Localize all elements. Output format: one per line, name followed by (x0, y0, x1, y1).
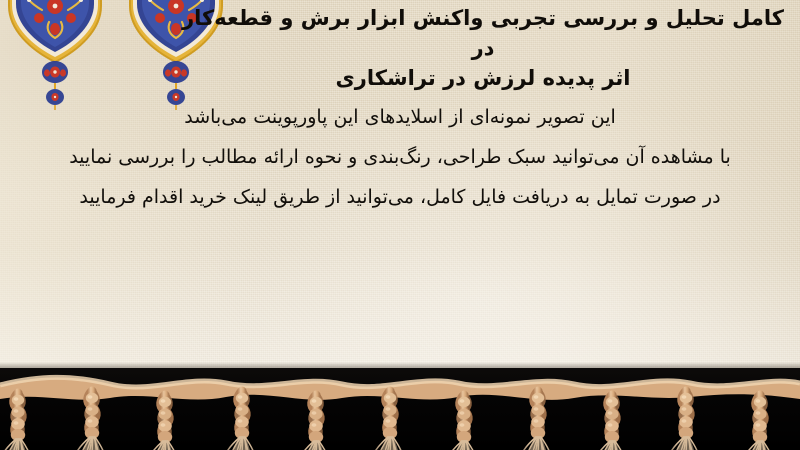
presentation-slide: کامل تحلیل و بررسی تجربی واکنش ابزار برش… (0, 0, 800, 450)
body-line-2: با مشاهده آن می‌توانید سبک طراحی، رنگ‌بن… (40, 148, 760, 167)
slide-title-line-2: اثر پدیده لرزش در تراشکاری (178, 64, 788, 94)
body-line-3: در صورت تمایل به دریافت فایل کامل، می‌تو… (40, 188, 760, 207)
slide-title-line-1: کامل تحلیل و بررسی تجربی واکنش ابزار برش… (178, 4, 788, 64)
body-line-1: این تصویر نمونه‌ای از اسلایدهای این پاور… (40, 108, 760, 127)
slide-body: این تصویر نمونه‌ای از اسلایدهای این پاور… (40, 108, 760, 207)
fringe-svg (0, 345, 800, 450)
carpet-fringe-tassels (0, 345, 800, 450)
slide-title: کامل تحلیل و بررسی تجربی واکنش ابزار برش… (178, 4, 788, 93)
slide-text-layer: کامل تحلیل و بررسی تجربی واکنش ابزار برش… (0, 0, 800, 372)
